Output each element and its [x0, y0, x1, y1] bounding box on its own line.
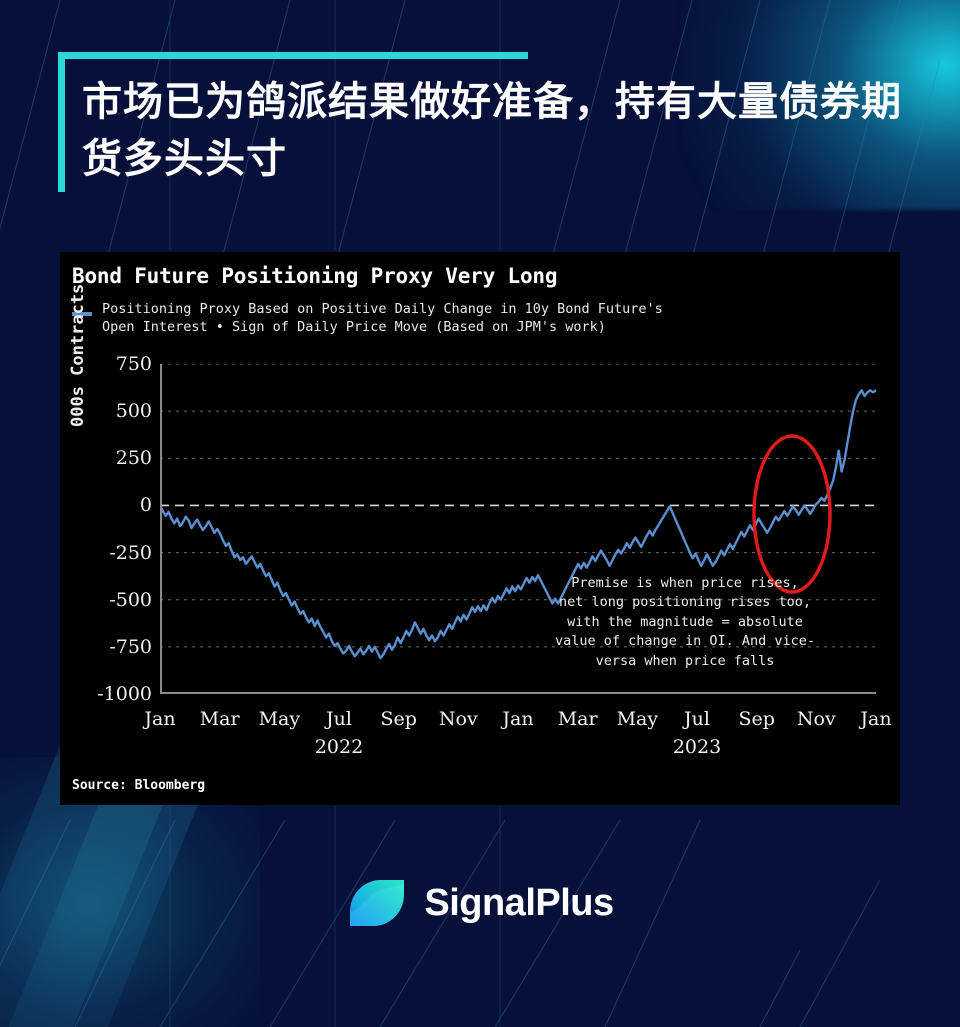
chart-source: Source: Bloomberg [72, 778, 205, 793]
x-tick-label: Nov [439, 708, 478, 730]
accent-bar-top [58, 52, 528, 59]
chart-legend: Positioning Proxy Based on Positive Dail… [72, 300, 882, 336]
y-tick-label: -750 [109, 636, 152, 658]
x-tick-label: Jan [502, 708, 533, 730]
y-tick-label: 250 [116, 447, 152, 469]
x-tick-label: Jan [144, 708, 175, 730]
x-axis-year-label: 2023 [673, 736, 721, 758]
y-tick-label: 500 [116, 400, 152, 422]
accent-bar-left [58, 52, 65, 192]
x-tick-label: Sep [380, 708, 416, 730]
chart-panel: Bond Future Positioning Proxy Very Long … [60, 252, 900, 805]
page-title: 市场已为鸽派结果做好准备，持有大量债券期货多头头寸 [82, 52, 912, 188]
poster-root: 市场已为鸽派结果做好准备，持有大量债券期货多头头寸 Bond Future Po… [0, 0, 960, 1027]
axis-left-spine [160, 364, 162, 694]
y-tick-label: 0 [140, 494, 152, 516]
x-tick-label: Mar [200, 708, 240, 730]
x-tick-label: Nov [797, 708, 836, 730]
brand-name: SignalPlus [424, 882, 613, 925]
y-axis-ticks: 7505002500-250-500-750-1000 [78, 364, 152, 694]
y-axis-label: 000s Contracts [68, 284, 88, 427]
y-tick-label: -1000 [97, 683, 152, 705]
chart-subtitle: Positioning Proxy Based on Positive Dail… [102, 300, 882, 336]
chart-annotation: Premise is when price rises, net long po… [520, 574, 850, 671]
x-axis-year-label: 2022 [315, 736, 363, 758]
headline-block: 市场已为鸽派结果做好准备，持有大量债券期货多头头寸 [58, 52, 898, 188]
y-tick-label: -500 [109, 589, 152, 611]
x-tick-label: Jul [326, 708, 352, 730]
highlight-ellipse-icon [754, 436, 830, 592]
x-axis-ticks: JanMarMayJulSepNovJanMarMayJulSepNovJan2… [160, 704, 876, 764]
x-tick-label: Sep [738, 708, 774, 730]
x-tick-label: Jul [684, 708, 710, 730]
brand-footer: SignalPlus [0, 872, 960, 934]
x-tick-label: Jan [860, 708, 891, 730]
signalplus-logo-icon [346, 872, 408, 934]
chart-title: Bond Future Positioning Proxy Very Long [72, 264, 557, 288]
x-tick-label: May [259, 708, 301, 730]
y-tick-label: -250 [109, 542, 152, 564]
x-tick-label: May [617, 708, 659, 730]
x-tick-label: Mar [558, 708, 598, 730]
y-tick-label: 750 [116, 353, 152, 375]
axis-bottom-spine [160, 692, 876, 694]
